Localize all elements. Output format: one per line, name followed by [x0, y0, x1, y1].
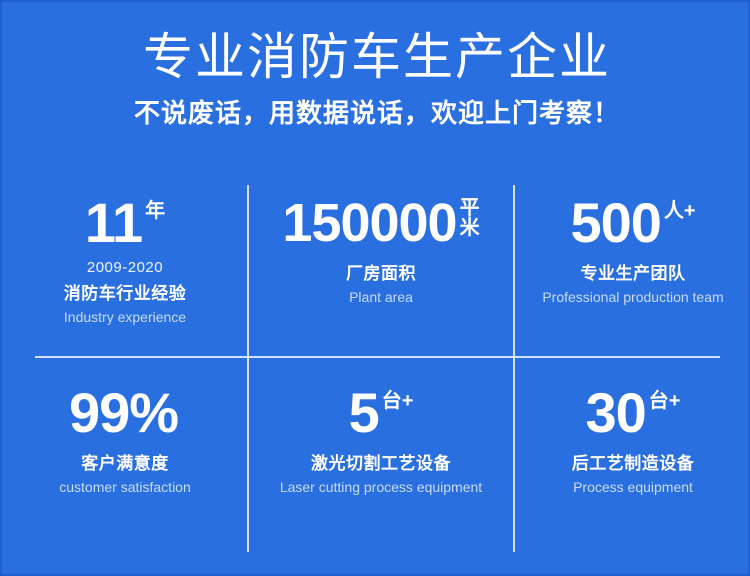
stat-number: 500 [570, 192, 660, 254]
stat-number-row: 30 台+ [586, 382, 681, 444]
stat-number-row: 150000 平 米 [282, 192, 479, 254]
stat-unit: 平 米 [460, 198, 480, 238]
stat-number: 11 [85, 192, 142, 254]
stat-number-row: 5 台+ [349, 382, 414, 444]
stat-number-row: 11 年 [85, 192, 165, 254]
stat-range: 2009-2020 [87, 258, 163, 278]
stat-cell-customer-satisfaction: 99% 客户满意度 customer satisfaction [2, 356, 248, 556]
stat-cell-process-equipment: 30 台+ 后工艺制造设备 Process equipment [514, 356, 750, 556]
stat-label-en: Plant area [349, 287, 413, 307]
stat-unit: 台+ [649, 390, 681, 412]
banner-header: 专业消防车生产企业 不说废话，用数据说话，欢迎上门考察！ [2, 26, 750, 132]
divider-vertical-left [247, 185, 249, 552]
stat-number: 150000 [282, 192, 456, 254]
stat-cell-industry-experience: 11 年 2009-2020 消防车行业经验 Industry experien… [2, 178, 248, 356]
stat-label-cn: 客户满意度 [81, 452, 169, 476]
divider-vertical-right [513, 185, 515, 552]
stat-label-cn: 厂房面积 [346, 262, 416, 286]
stat-number: 30 [586, 382, 646, 444]
page-title: 专业消防车生产企业 [2, 26, 750, 88]
stat-label-en: customer satisfaction [59, 477, 191, 497]
stat-number-row: 500 人+ [570, 192, 695, 254]
stat-number-row: 99% [69, 382, 181, 444]
stat-unit: 台+ [382, 390, 414, 412]
stat-unit-line-1: 平 [460, 198, 480, 218]
stat-number: 5 [349, 382, 379, 444]
stat-unit: 人+ [664, 200, 696, 222]
promo-banner: 专业消防车生产企业 不说废话，用数据说话，欢迎上门考察！ 11 年 2009-2… [0, 0, 750, 576]
stats-grid: 11 年 2009-2020 消防车行业经验 Industry experien… [2, 178, 750, 556]
stat-number: 99% [69, 382, 178, 444]
stat-cell-plant-area: 150000 平 米 厂房面积 Plant area [248, 178, 514, 356]
stat-label-cn: 后工艺制造设备 [572, 452, 695, 476]
stat-cell-production-team: 500 人+ 专业生产团队 Professional production te… [514, 178, 750, 356]
page-subtitle: 不说废话，用数据说话，欢迎上门考察！ [2, 94, 750, 132]
stat-label-en: Industry experience [64, 307, 186, 327]
stat-label-en: Laser cutting process equipment [280, 477, 482, 497]
stat-label-cn: 激光切割工艺设备 [311, 452, 451, 476]
stat-label-en: Professional production team [542, 287, 723, 307]
divider-horizontal [35, 356, 720, 358]
stat-unit: 年 [145, 200, 165, 222]
stat-label-en: Process equipment [573, 477, 693, 497]
stat-unit-line-2: 米 [460, 218, 480, 238]
stat-cell-laser-cutting-equipment: 5 台+ 激光切割工艺设备 Laser cutting process equi… [248, 356, 514, 556]
stat-label-cn: 专业生产团队 [581, 262, 686, 286]
stat-label-cn: 消防车行业经验 [64, 282, 187, 306]
